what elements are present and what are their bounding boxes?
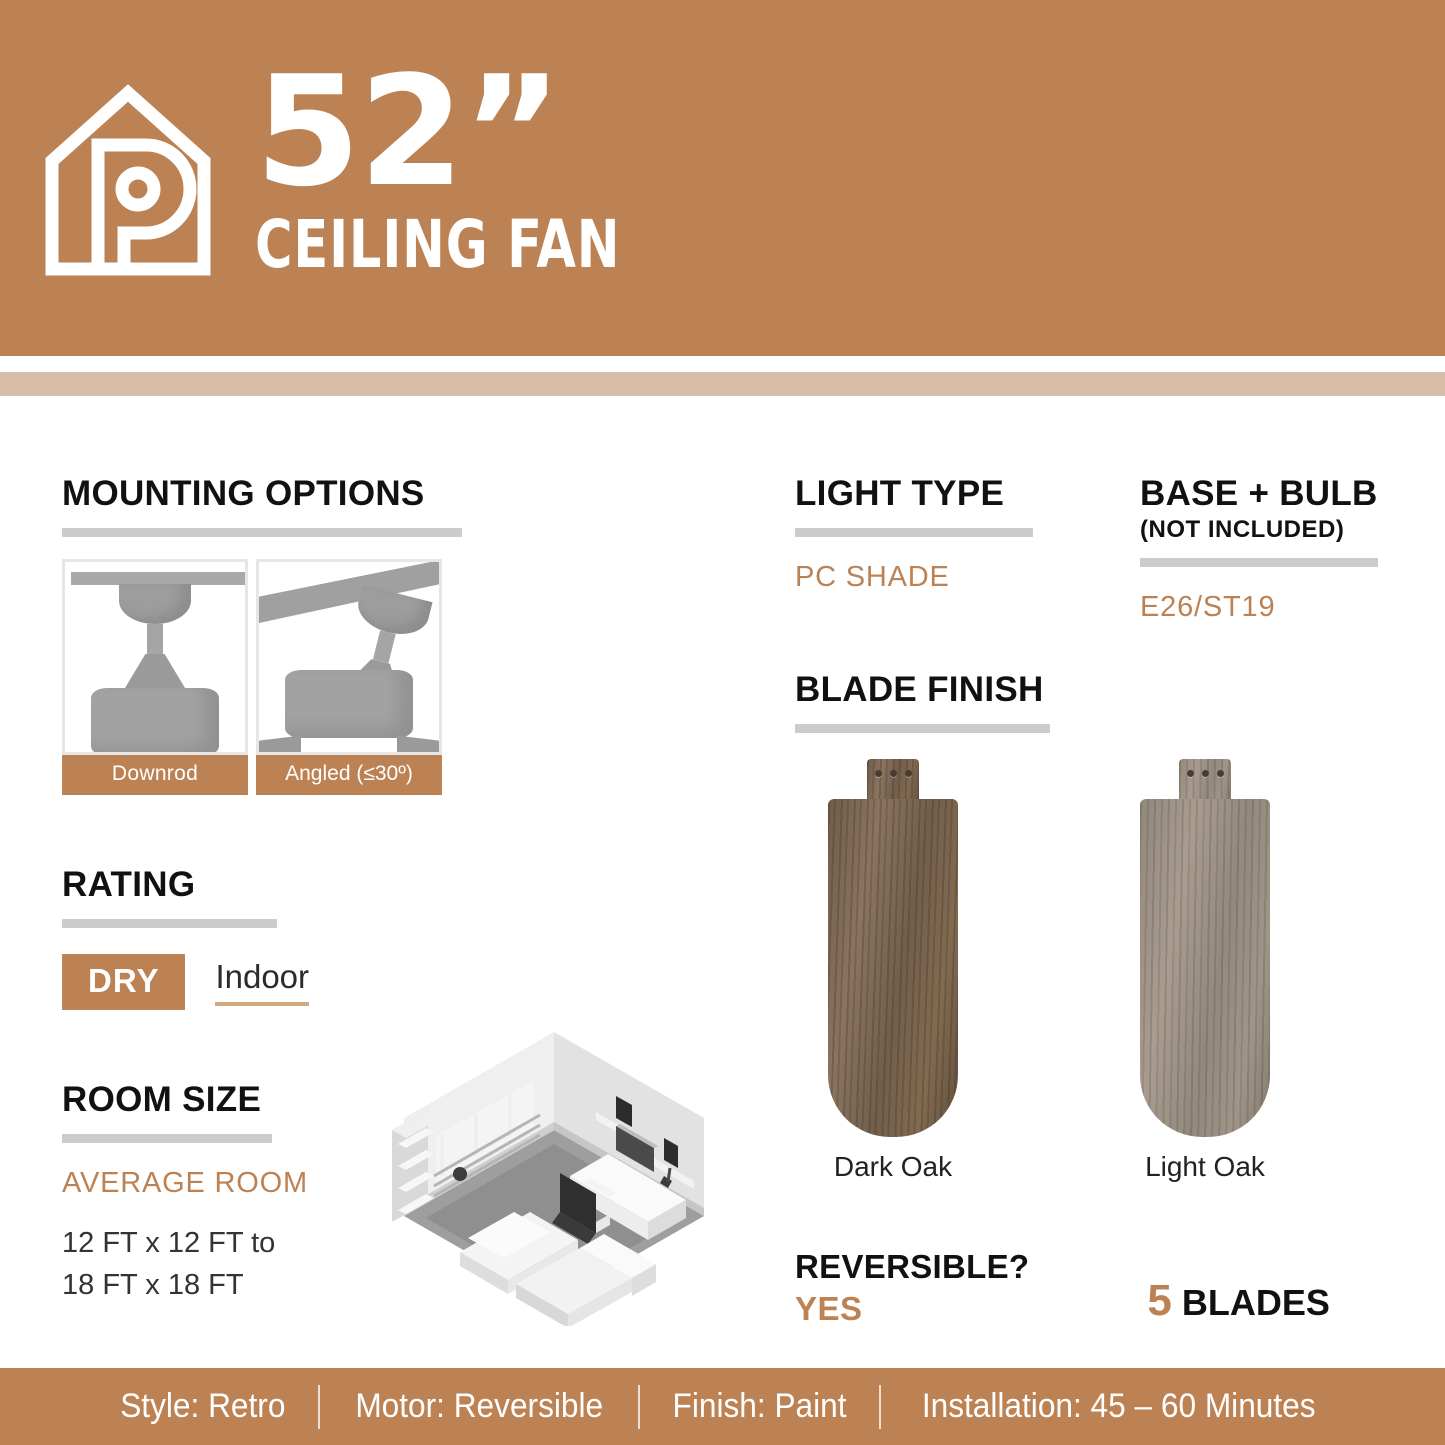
brand-logo (0, 73, 255, 284)
isometric-room-illustration (364, 1026, 744, 1326)
page-header: 52” CEILING FAN (0, 0, 1445, 356)
fan-blade-dark-oak-icon (828, 759, 958, 1137)
blade-finish-label: Light Oak (1125, 1151, 1285, 1183)
left-column: MOUNTING OPTIONS (62, 474, 762, 1306)
mounting-options-section: MOUNTING OPTIONS (62, 474, 762, 795)
base-bulb-value: E26/ST19 (1140, 591, 1440, 624)
light-type-section: LIGHT TYPE PC SHADE (795, 474, 1125, 594)
base-bulb-title: BASE + BULB (1140, 474, 1440, 514)
footer-spec-list: Style: Retro Motor: Reversible Finish: P… (114, 1385, 1331, 1429)
reversible-question: REVERSIBLE? (795, 1248, 1029, 1286)
fan-blade-light-oak-icon (1140, 759, 1270, 1137)
room-size-section: ROOM SIZE AVERAGE ROOM 12 FT x 12 FT to … (62, 1080, 762, 1306)
page-footer: Style: Retro Motor: Reversible Finish: P… (0, 1368, 1445, 1445)
blade-finish-title: BLADE FINISH (795, 670, 1125, 710)
mounting-option-downrod[interactable]: Downrod (62, 559, 248, 795)
divider (795, 528, 1033, 537)
mounting-option-label: Angled (≤30º) (256, 755, 442, 795)
divider (62, 528, 462, 537)
footer-spec-finish: Finish: Paint (673, 1387, 847, 1426)
light-type-title: LIGHT TYPE (795, 474, 1125, 514)
blade-finish-label: Dark Oak (813, 1151, 973, 1183)
divider (795, 724, 1050, 733)
mounting-options-list: Downrod (62, 559, 762, 795)
footer-separator (318, 1385, 320, 1429)
mounting-option-angled[interactable]: Angled (≤30º) (256, 559, 442, 795)
footer-separator (879, 1385, 881, 1429)
divider (62, 919, 277, 928)
middle-column: LIGHT TYPE PC SHADE BLADE FINISH (795, 474, 1125, 1199)
blade-finish-section: BLADE FINISH Dark Oak (795, 670, 1125, 1199)
blade-count-label: BLADES (1182, 1282, 1330, 1323)
accent-stripe (0, 372, 1445, 396)
bottom-facts: REVERSIBLE? YES 5 BLADES (795, 1248, 1415, 1328)
base-bulb-section: BASE + BULB (NOT INCLUDED) E26/ST19 (1140, 474, 1440, 624)
base-bulb-subtitle: (NOT INCLUDED) (1140, 516, 1440, 544)
main-content: MOUNTING OPTIONS (0, 396, 1445, 1356)
footer-spec-motor: Motor: Reversible (355, 1387, 603, 1426)
rating-badge: DRY (62, 954, 185, 1010)
light-type-value: PC SHADE (795, 561, 1125, 594)
blade-count-number: 5 (1147, 1276, 1171, 1325)
fan-size-title: 52” (255, 62, 680, 202)
divider (62, 1134, 272, 1143)
house-p-logo-icon (42, 83, 214, 284)
rating-section: RATING DRY Indoor (62, 865, 762, 1010)
rating-title: RATING (62, 865, 762, 905)
reversible-fact: REVERSIBLE? YES (795, 1248, 1029, 1328)
rating-values: DRY Indoor (62, 954, 762, 1010)
footer-spec-style: Style: Retro (120, 1387, 285, 1426)
rating-note: Indoor (215, 958, 309, 1006)
blade-finish-light-oak[interactable]: Light Oak (1125, 759, 1285, 1183)
reversible-answer: YES (795, 1290, 1029, 1328)
product-name-title: CEILING FAN (255, 210, 620, 279)
header-titles: 52” CEILING FAN (255, 62, 680, 293)
fan-downrod-mount-icon (62, 559, 248, 755)
footer-spec-installation: Installation: 45 – 60 Minutes (922, 1387, 1316, 1426)
fan-angled-mount-icon (256, 559, 442, 755)
blade-count-fact: 5 BLADES (1147, 1276, 1330, 1328)
blade-finish-list: Dark Oak Light Oak (795, 759, 1435, 1199)
divider (1140, 558, 1378, 567)
right-column: BASE + BULB (NOT INCLUDED) E26/ST19 (1140, 474, 1440, 624)
footer-separator (638, 1385, 640, 1429)
blade-finish-dark-oak[interactable]: Dark Oak (813, 759, 973, 1183)
mounting-option-label: Downrod (62, 755, 248, 795)
mounting-options-title: MOUNTING OPTIONS (62, 474, 762, 514)
